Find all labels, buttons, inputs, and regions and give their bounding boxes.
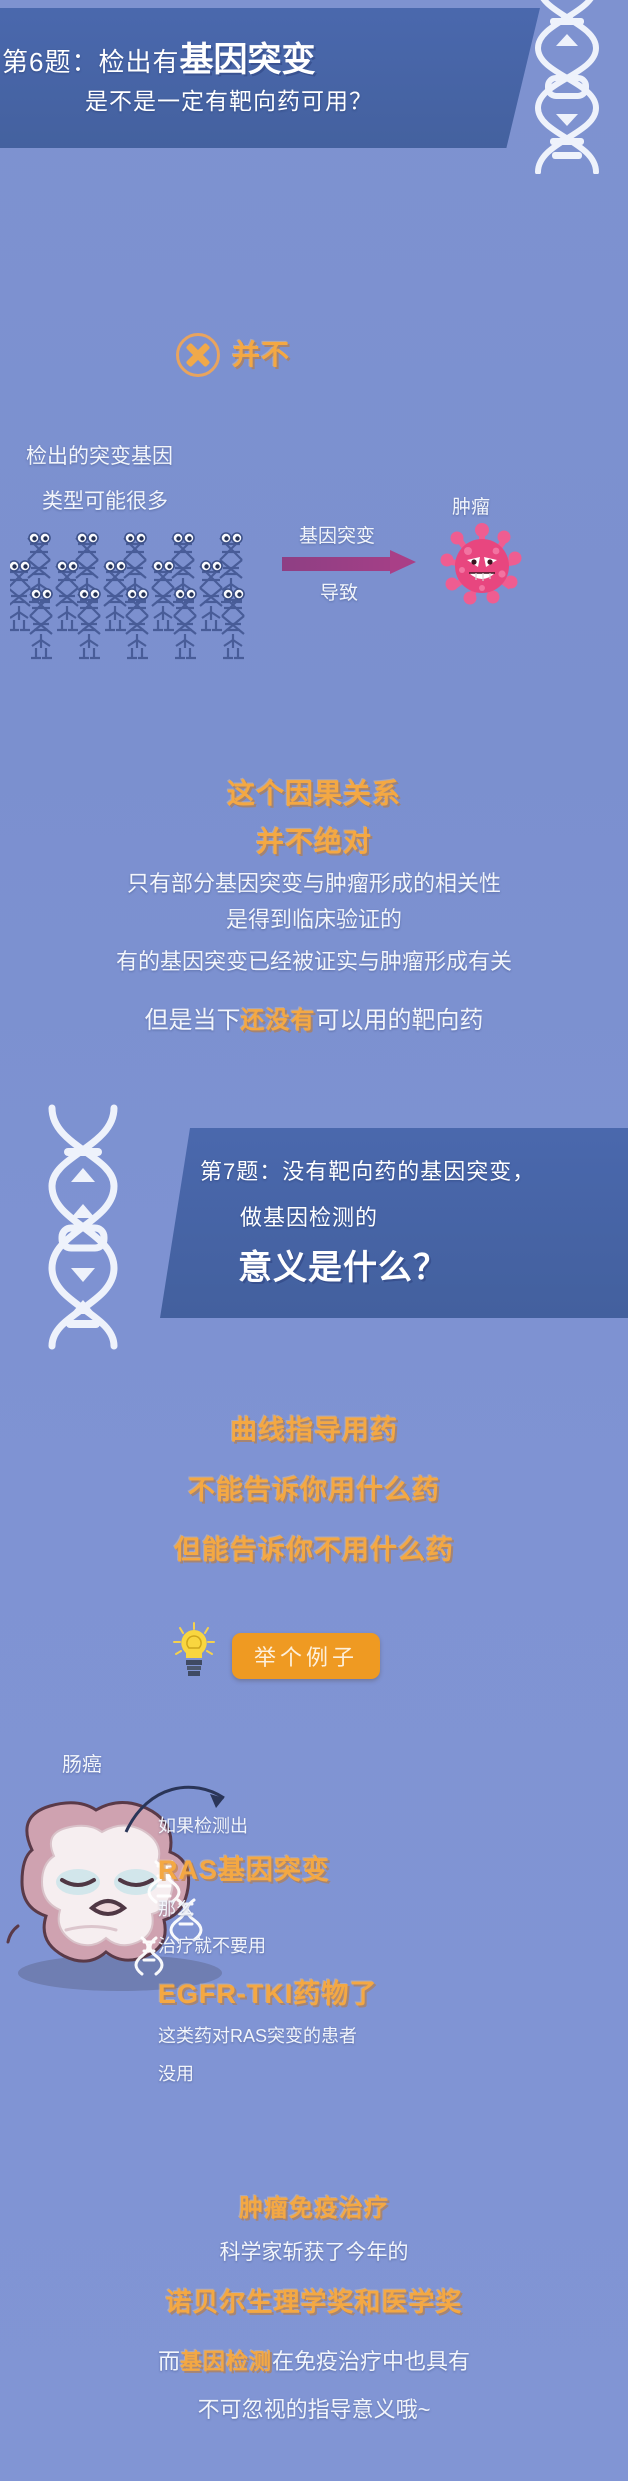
closing-final-prefix: 而 bbox=[158, 2349, 180, 2374]
crowd-caption-line-2: 类型可能很多 bbox=[42, 485, 168, 515]
dna-helix-icon bbox=[512, 0, 622, 174]
tumor-label: 肿瘤 bbox=[452, 492, 490, 519]
closing-headline: 肿瘤免疫治疗 bbox=[0, 2188, 628, 2223]
dna-helix-icon-secondary bbox=[24, 1104, 142, 1350]
question-6-banner: 第6题：检出有基因突变 是不是一定有靶向药可用？ bbox=[0, 8, 540, 148]
tumor-virus-illustration bbox=[436, 518, 528, 610]
q6-closing-suffix: 可以用的靶向药 bbox=[316, 1007, 484, 1034]
question-6-line-1: 第6题：检出有基因突变 bbox=[2, 32, 315, 81]
q6-closing-highlight: 还没有 bbox=[241, 1007, 316, 1034]
closing-final-line: 而基因检测在免疫治疗中也具有 bbox=[0, 2344, 628, 2376]
question-6-line-1-prefix: 第6题：检出有 bbox=[2, 47, 179, 77]
case-line-1: 如果检测出 bbox=[158, 1812, 248, 1838]
q6-closing-line: 但是当下还没有可以用的靶向药 bbox=[0, 1000, 628, 1035]
closing-final-highlight: 基因检测 bbox=[180, 2349, 272, 2374]
intestine-label: 肠癌 bbox=[62, 1748, 102, 1777]
question-7-banner: 第7题：没有靶向药的基因突变， 做基因检测的 意义是什么？ bbox=[160, 1128, 628, 1318]
q6-closing-prefix: 但是当下 bbox=[145, 1007, 241, 1034]
infographic-page: 第6题：检出有基因突变 是不是一定有靶向药可用？ 并不 检出的突变基因 类型可能… bbox=[0, 0, 628, 2481]
dna-people-crowd-illustration bbox=[10, 528, 260, 663]
verdict-label: 并不 bbox=[232, 333, 290, 373]
q6-headline-2: 并不绝对 bbox=[0, 820, 628, 860]
q6-body-line-2: 是得到临床验证的 bbox=[0, 902, 628, 934]
question-7-line-2: 做基因检测的 bbox=[240, 1200, 378, 1232]
question-6-line-2: 是不是一定有靶向药可用？ bbox=[85, 82, 373, 116]
crowd-caption-line-1: 检出的突变基因 bbox=[26, 440, 173, 470]
closing-prize: 诺贝尔生理学奖和医学奖 bbox=[0, 2282, 628, 2319]
q7-headline-1: 曲线指导用药 bbox=[0, 1408, 628, 1447]
closing-final-last: 不可忽视的指导意义哦~ bbox=[0, 2392, 628, 2424]
case-line-4: 治疗就不要用 bbox=[158, 1932, 266, 1958]
case-line-6: 这类药对RAS突变的患者 bbox=[158, 2022, 357, 2048]
case-line-7: 没用 bbox=[158, 2060, 194, 2086]
question-6-line-1-strong: 基因突变 bbox=[179, 41, 315, 79]
circle-x-icon bbox=[176, 333, 220, 377]
q6-headline-1: 这个因果关系 bbox=[0, 772, 628, 812]
closing-final-suffix: 在免疫治疗中也具有 bbox=[272, 2349, 470, 2374]
arrow-below-label: 导致 bbox=[320, 578, 358, 605]
causation-arrow-icon bbox=[282, 552, 424, 574]
question-7-line-3: 意义是什么？ bbox=[238, 1240, 448, 1289]
case-line-3: 那么 bbox=[158, 1895, 194, 1921]
case-line-2-ras: RAS基因突变 bbox=[158, 1848, 330, 1887]
arrow-above-label: 基因突变 bbox=[299, 521, 375, 548]
question-7-line-1: 第7题：没有靶向药的基因突变， bbox=[200, 1154, 535, 1186]
case-line-5-egfr: EGFR-TKI药物了 bbox=[158, 1972, 378, 2011]
q6-body-line-3: 有的基因突变已经被证实与肿瘤形成有关 bbox=[0, 944, 628, 976]
q7-headline-2: 不能告诉你用什么药 bbox=[0, 1468, 628, 1507]
example-badge: 举个例子 bbox=[232, 1633, 380, 1679]
q6-body-line-1: 只有部分基因突变与肿瘤形成的相关性 bbox=[0, 866, 628, 898]
q7-headline-3: 但能告诉你不用什么药 bbox=[0, 1528, 628, 1567]
lightbulb-icon bbox=[172, 1622, 216, 1680]
closing-line-1: 科学家斩获了今年的 bbox=[0, 2236, 628, 2266]
